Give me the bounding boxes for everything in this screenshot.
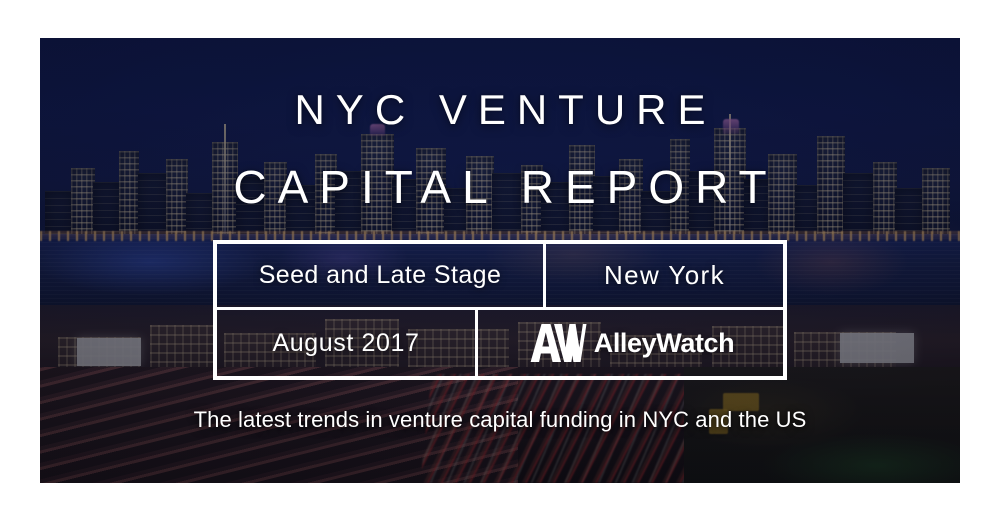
- alleywatch-logo: AlleyWatch: [527, 323, 735, 363]
- stage-label: Seed and Late Stage: [259, 261, 502, 290]
- poster-tagline: The latest trends in venture capital fun…: [194, 407, 807, 433]
- info-cell-date: August 2017: [217, 310, 478, 376]
- alleywatch-wordmark: AlleyWatch: [594, 328, 735, 359]
- report-title-line-1: NYC VENTURE: [283, 86, 716, 134]
- info-row-top: Seed and Late Stage New York: [217, 244, 783, 310]
- info-grid: Seed and Late Stage New York August 2017: [213, 240, 787, 380]
- city-label: New York: [604, 260, 725, 291]
- banner-image: NYC VENTURE CAPITAL REPORT Seed and Late…: [40, 38, 960, 483]
- report-title-line-2: CAPITAL REPORT: [222, 160, 777, 214]
- info-cell-brand: AlleyWatch: [478, 310, 783, 376]
- info-cell-stage: Seed and Late Stage: [217, 244, 546, 307]
- info-cell-city: New York: [546, 244, 783, 307]
- info-row-bottom: August 2017: [217, 310, 783, 376]
- text-overlay: NYC VENTURE CAPITAL REPORT Seed and Late…: [40, 38, 960, 483]
- aw-monogram-icon: [527, 323, 587, 363]
- poster-root: NYC VENTURE CAPITAL REPORT Seed and Late…: [0, 0, 1000, 523]
- date-label: August 2017: [273, 329, 420, 358]
